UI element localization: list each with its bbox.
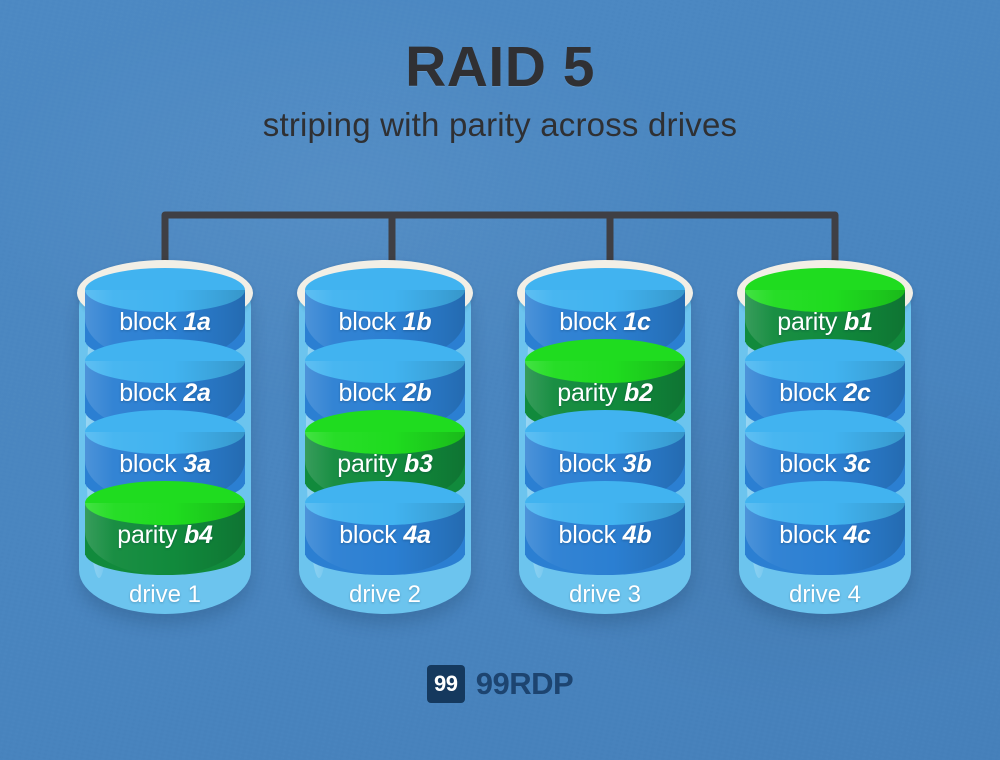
brand-footer: 99 99RDP: [0, 665, 1000, 703]
block-label-prefix: block: [779, 450, 836, 478]
block-label: parity b3: [305, 450, 465, 479]
block-label: parity b1: [745, 308, 905, 337]
block-label-prefix: block: [559, 308, 616, 336]
block-label-id: 2b: [403, 379, 432, 407]
logo-mark-icon: 99: [427, 665, 465, 703]
block-label-id: b1: [844, 308, 873, 336]
page-title: RAID 5: [0, 38, 1000, 98]
drive-2[interactable]: block 1bblock 2bparity b3block 4adrive 2: [292, 248, 478, 630]
block-label: block 1a: [85, 308, 245, 337]
block-label-prefix: block: [119, 450, 176, 478]
page-subtitle: striping with parity across drives: [0, 106, 1000, 144]
block-label: block 1c: [525, 308, 685, 337]
block-label-prefix: parity: [777, 308, 837, 336]
block-label-id: b4: [184, 521, 213, 549]
block-label-id: 1c: [623, 308, 650, 336]
block-label-id: b3: [404, 450, 433, 478]
block-label-prefix: block: [779, 379, 836, 407]
block-label: parity b4: [85, 521, 245, 550]
disc-top: [85, 268, 245, 312]
block-label: block 3b: [525, 450, 685, 479]
block-stack: parity b1block 2cblock 3cblock 4c: [745, 268, 905, 598]
drive-3[interactable]: block 1cparity b2block 3bblock 4bdrive 3: [512, 248, 698, 630]
block-label-id: 4a: [403, 521, 430, 549]
data-block-4a[interactable]: block 4a: [305, 481, 465, 577]
disc-top: [525, 481, 685, 525]
block-label: block 4b: [525, 521, 685, 550]
block-label-id: 3b: [623, 450, 652, 478]
drive-label: drive 3: [512, 581, 698, 609]
disc-top: [85, 339, 245, 383]
block-stack: block 1ablock 2ablock 3aparity b4: [85, 268, 245, 598]
block-label: block 3a: [85, 450, 245, 479]
block-label: block 4a: [305, 521, 465, 550]
block-label-id: 2a: [183, 379, 210, 407]
block-label-prefix: block: [559, 521, 616, 549]
block-stack: block 1bblock 2bparity b3block 4a: [305, 268, 465, 598]
diagram-header: RAID 5 striping with parity across drive…: [0, 38, 1000, 144]
logo-wordmark: 99RDP: [476, 666, 573, 702]
block-label-id: 1b: [403, 308, 432, 336]
block-label-prefix: parity: [337, 450, 397, 478]
data-block-4b[interactable]: block 4b: [525, 481, 685, 577]
drive-array: block 1ablock 2ablock 3aparity b4drive 1…: [0, 248, 1000, 648]
disc-top: [525, 268, 685, 312]
block-stack: block 1cparity b2block 3bblock 4b: [525, 268, 685, 598]
block-label-id: 3c: [843, 450, 870, 478]
block-label-id: 1a: [183, 308, 210, 336]
block-label-id: 2c: [843, 379, 870, 407]
disc-top: [305, 268, 465, 312]
disc-top: [85, 481, 245, 525]
drive-label: drive 4: [732, 581, 918, 609]
disc-top: [85, 410, 245, 454]
block-label-id: 4c: [843, 521, 870, 549]
block-label-prefix: block: [779, 521, 836, 549]
block-label-prefix: block: [339, 521, 396, 549]
drive-4[interactable]: parity b1block 2cblock 3cblock 4cdrive 4: [732, 248, 918, 630]
block-label-prefix: parity: [117, 521, 177, 549]
block-label-prefix: block: [119, 379, 176, 407]
disc-top: [305, 410, 465, 454]
drive-1[interactable]: block 1ablock 2ablock 3aparity b4drive 1: [72, 248, 258, 630]
block-label: block 2a: [85, 379, 245, 408]
block-label-prefix: block: [339, 308, 396, 336]
drive-label: drive 2: [292, 581, 478, 609]
raid5-diagram: RAID 5 striping with parity across drive…: [0, 0, 1000, 760]
block-label: block 4c: [745, 521, 905, 550]
drive-label: drive 1: [72, 581, 258, 609]
block-label: block 2c: [745, 379, 905, 408]
block-label-prefix: parity: [557, 379, 617, 407]
disc-top: [745, 339, 905, 383]
disc-top: [305, 481, 465, 525]
block-label-id: 3a: [183, 450, 210, 478]
block-label-id: 4b: [623, 521, 652, 549]
disc-top: [745, 481, 905, 525]
block-label: block 3c: [745, 450, 905, 479]
block-label-prefix: block: [559, 450, 616, 478]
disc-top: [745, 410, 905, 454]
block-label: block 2b: [305, 379, 465, 408]
block-label: block 1b: [305, 308, 465, 337]
block-label-prefix: block: [119, 308, 176, 336]
block-label-prefix: block: [339, 379, 396, 407]
disc-top: [745, 268, 905, 312]
disc-top: [525, 339, 685, 383]
block-label-id: b2: [624, 379, 653, 407]
parity-block-b4[interactable]: parity b4: [85, 481, 245, 577]
disc-top: [305, 339, 465, 383]
block-label: parity b2: [525, 379, 685, 408]
disc-top: [525, 410, 685, 454]
data-block-4c[interactable]: block 4c: [745, 481, 905, 577]
